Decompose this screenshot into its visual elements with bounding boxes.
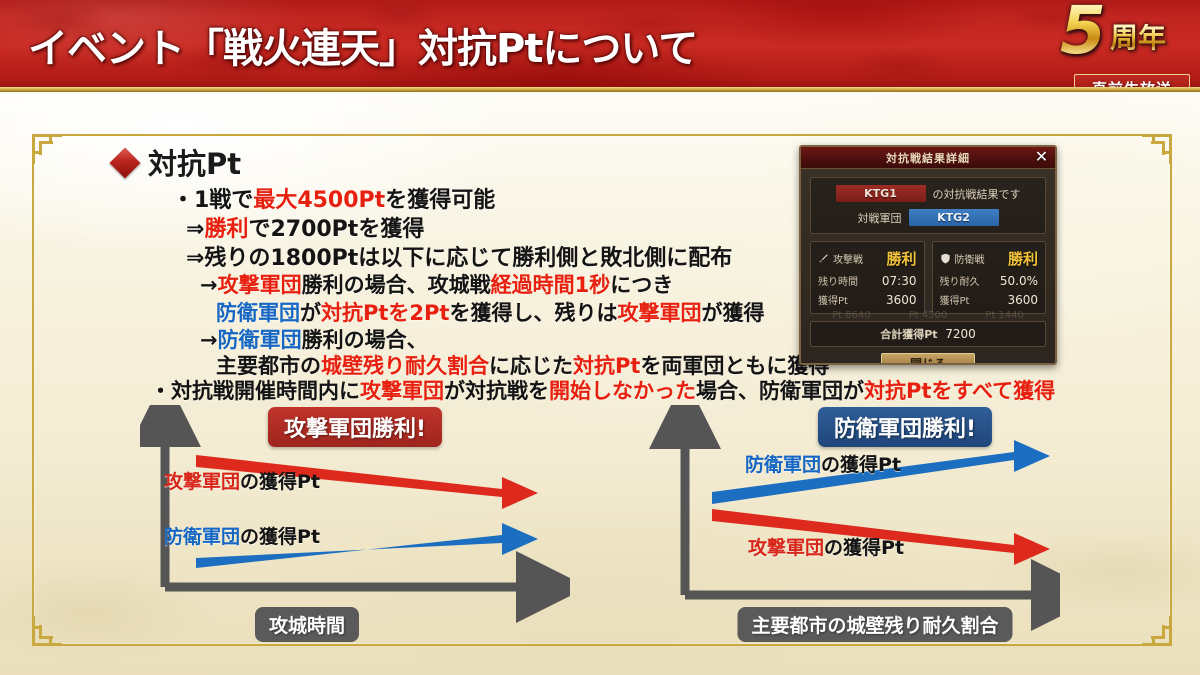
defense-row-1-value: 3600: [1007, 293, 1038, 307]
anniversary-number: 5: [1060, 0, 1106, 64]
total-points-box: 合計獲得Pt 7200: [810, 321, 1046, 347]
defense-chart-x-label: 主要都市の城壁残り耐久割合: [737, 607, 1012, 642]
defense-row-0-value: 50.0%: [1000, 274, 1038, 288]
sword-icon: [818, 253, 829, 264]
own-legion-row: KTG1 の対抗戦結果です: [819, 185, 1037, 202]
body-line-2: ⇒勝利で2700Ptを獲得: [186, 211, 424, 243]
attack-row-1-value: 3600: [886, 293, 917, 307]
attack-row-0: 残り時間 07:30: [818, 273, 917, 288]
result-suffix-label: の対抗戦結果です: [933, 186, 1021, 202]
attack-panel-label: 攻撃戦: [833, 251, 863, 266]
attack-row-0-value: 07:30: [882, 274, 917, 288]
defense-result-panel: 防衛戦 勝利 残り耐久 50.0% 獲得Pt 3600: [932, 241, 1047, 314]
defense-series-label: 防衛軍団の獲得Pt: [745, 450, 901, 477]
defense-row-1: 獲得Pt 3600: [940, 292, 1039, 307]
battle-result-dialog[interactable]: 対抗戦結果詳細 ✕ KTG1 の対抗戦結果です 対戦軍団 KTG2: [799, 145, 1057, 365]
attack-row-0-key: 残り時間: [818, 273, 858, 288]
defense-row-0: 残り耐久 50.0%: [940, 273, 1039, 288]
shield-icon: [940, 253, 951, 264]
anniversary-badge: 5 周年 直前生放送: [1054, 2, 1194, 92]
total-points-value: 7200: [945, 327, 976, 341]
body-line-4: →攻撃軍団勝利の場合、攻城戦経過時間1秒につき: [200, 269, 673, 299]
anniversary-kanji: 周年: [1110, 24, 1166, 52]
defense-result-value: 勝利: [1008, 248, 1038, 269]
opponent-legion-row: 対戦軍団 KTG2: [819, 209, 1037, 226]
dialog-titlebar: 対抗戦結果詳細 ✕: [801, 147, 1055, 169]
body-line-3: ⇒残りの1800Ptは以下に応じて勝利側と敗北側に配布: [186, 240, 732, 272]
defense-row-0-key: 残り耐久: [940, 273, 980, 288]
attack-series-label: 攻撃軍団の獲得Pt: [164, 467, 320, 494]
defense-panel-label: 防衛戦: [955, 251, 985, 266]
defense-panel-header: 防衛戦 勝利: [940, 248, 1039, 269]
slide-root: イベント「戦火連天」対抗Ptについて 5 周年 直前生放送 対抗Pt ・1戦で最…: [0, 0, 1200, 675]
attack-victory-chart: 攻撃軍団勝利! 攻撃軍団の獲得Pt 防衛軍団の獲得Pt 攻城時間: [140, 405, 570, 640]
defense-panel-label-group: 防衛戦: [940, 251, 985, 266]
defense-victory-plot: [630, 405, 1060, 640]
dialog-content: KTG1 の対抗戦結果です 対戦軍団 KTG2 攻撃戦: [801, 169, 1055, 365]
dialog-title: 対抗戦結果詳細: [886, 150, 970, 166]
page-title: イベント「戦火連天」対抗Ptについて: [28, 16, 697, 74]
total-points-label: 合計獲得Pt: [880, 328, 937, 341]
attack-row-1-key: 獲得Pt: [818, 292, 848, 307]
defense-victory-chart: 防衛軍団勝利! 防衛軍団の獲得Pt 攻撃軍団の獲得Pt 主要都市の城壁残り耐久割…: [630, 405, 1060, 640]
defense-row-1-key: 獲得Pt: [940, 292, 970, 307]
close-button[interactable]: 閉じる: [881, 353, 975, 365]
frame-corner-top-left: [32, 134, 66, 168]
close-icon[interactable]: ✕: [1033, 148, 1050, 165]
result-panels: 攻撃戦 勝利 残り時間 07:30 獲得Pt 3600: [810, 241, 1046, 314]
attack-panel-header: 攻撃戦 勝利: [818, 248, 917, 269]
anniversary-subtitle: 直前生放送: [1074, 74, 1190, 92]
frame-corner-bottom-right: [1138, 612, 1172, 646]
attack-chart-x-label: 攻城時間: [255, 607, 359, 642]
legion-summary-box: KTG1 の対抗戦結果です 対戦軍団 KTG2: [810, 177, 1046, 234]
attack-series-label: 攻撃軍団の獲得Pt: [748, 533, 904, 560]
frame-corner-bottom-left: [32, 612, 66, 646]
body-line-1: ・1戦で最大4500Ptを獲得可能: [172, 182, 495, 214]
attack-result-value: 勝利: [886, 248, 916, 269]
attack-result-panel: 攻撃戦 勝利 残り時間 07:30 獲得Pt 3600: [810, 241, 925, 314]
body-line-5: 防衛軍団が対抗Ptを2Ptを獲得し、残りは攻撃軍団が獲得: [216, 297, 764, 327]
defense-series-label: 防衛軍団の獲得Pt: [164, 522, 320, 549]
opponent-label: 対戦軍団: [858, 210, 902, 226]
opponent-legion-tag: KTG2: [909, 209, 999, 226]
section-title: 対抗Pt: [148, 141, 241, 183]
body-line-8: ・対抗戦開催時間内に攻撃軍団が対抗戦を開始しなかった場合、防衛軍団が対抗Ptをす…: [150, 375, 1055, 405]
own-legion-tag: KTG1: [836, 185, 926, 202]
attack-panel-label-group: 攻撃戦: [818, 251, 863, 266]
attack-row-1: 獲得Pt 3600: [818, 292, 917, 307]
header-banner: イベント「戦火連天」対抗Ptについて 5 周年 直前生放送: [0, 0, 1200, 92]
frame-corner-top-right: [1138, 134, 1172, 168]
